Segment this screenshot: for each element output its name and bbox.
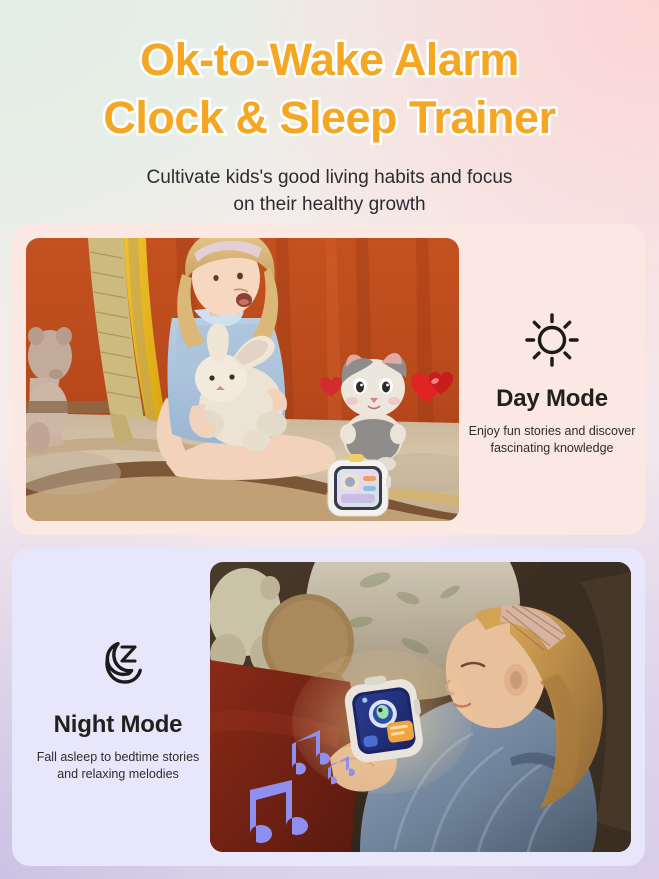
page-title-line-1: Ok-to-Wake Alarm [0, 31, 659, 89]
night-mode-description: Fall asleep to bedtime stories and relax… [37, 749, 200, 783]
page-subtitle: Cultivate kids's good living habits and … [0, 147, 659, 218]
day-mode-title: Day Mode [496, 385, 608, 413]
page-title: Ok-to-Wake Alarm Clock & Sleep Trainer [0, 0, 659, 147]
day-mode-photo [26, 238, 459, 521]
header: Ok-to-Wake Alarm Clock & Sleep Trainer C… [0, 0, 659, 218]
night-mode-description-line-1: Fall asleep to bedtime stories [37, 749, 200, 766]
night-mode-title: Night Mode [54, 711, 183, 739]
moon-z-icon [87, 635, 149, 697]
night-mode-description-line-2: and relaxing melodies [37, 766, 200, 783]
day-mode-description-line-1: Enjoy fun stories and discover [469, 423, 636, 440]
day-mode-text-block: Day Mode Enjoy fun stories and discover … [459, 238, 645, 521]
page-subtitle-line-2: on their healthy growth [0, 191, 659, 218]
night-mode-text-block: Night Mode Fall asleep to bedtime storie… [12, 562, 224, 852]
page-title-line-2: Clock & Sleep Trainer [0, 89, 659, 147]
page-root: Ok-to-Wake Alarm Clock & Sleep Trainer C… [0, 0, 659, 879]
page-subtitle-line-1: Cultivate kids's good living habits and … [0, 164, 659, 191]
night-mode-photo [210, 562, 631, 852]
day-mode-card: Day Mode Enjoy fun stories and discover … [12, 224, 645, 535]
day-mode-description-line-2: fascinating knowledge [469, 440, 636, 457]
day-mode-description: Enjoy fun stories and discover fascinati… [469, 423, 636, 457]
sun-icon [521, 309, 583, 371]
night-mode-card: Night Mode Fall asleep to bedtime storie… [12, 548, 645, 866]
